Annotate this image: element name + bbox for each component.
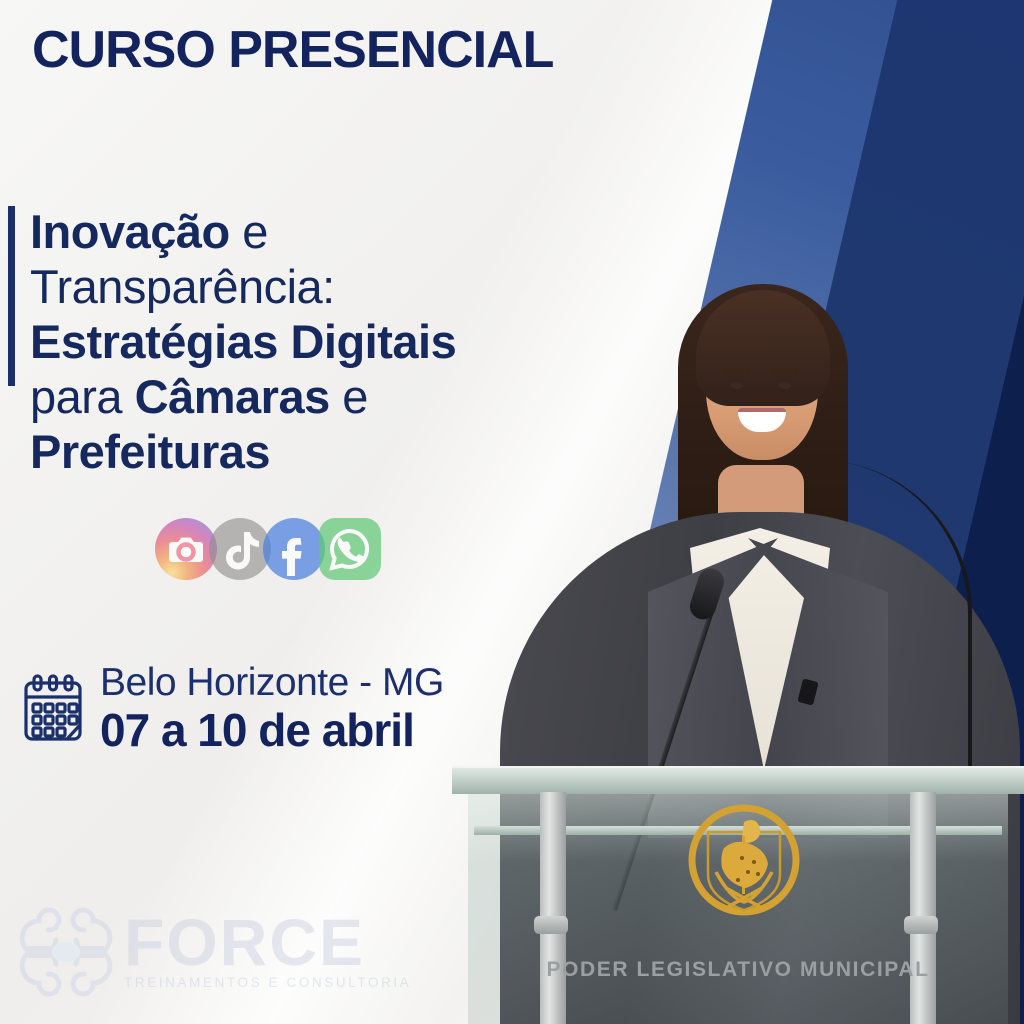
title-line-1: Inovação e [30,205,590,260]
title-word-para: para [30,370,135,423]
title-word-e2: e [330,370,368,423]
title-word-prefeituras: Prefeituras [30,425,270,478]
eye-right [778,382,791,389]
title-word-estrategias: Estratégias Digitais [30,315,456,368]
title-line-5: Prefeituras [30,425,590,480]
podium-label: PODER LEGISLATIVO MUNICIPAL [452,958,1024,982]
title-line-3: Estratégias Digitais [30,315,590,370]
brand-logo: FORCE TREINAMENTOS E CONSULTORIA [18,900,411,1004]
instagram-icon[interactable] [155,518,217,580]
title-word-inovacao: Inovação [30,205,230,258]
tiktok-icon[interactable] [209,518,271,580]
eyebrow-right [772,368,798,373]
event-text-block: Belo Horizonte - MG 07 a 10 de abril [100,663,444,754]
four-spiral-icon [18,900,114,1004]
logo-text-block: FORCE TREINAMENTOS E CONSULTORIA [124,900,411,990]
podium-leg-right [910,792,936,1024]
title-accent-bar [8,206,15,386]
title-word-e1: e [230,205,268,258]
mic-cable [818,460,972,790]
podium-knob-left [534,916,568,934]
podium-knob-right [904,916,938,934]
title-word-transparencia: Transparência: [30,260,335,313]
facebook-icon[interactable] [263,518,325,580]
poster-canvas: PODER LEGISLATIVO MUNICIPAL CURSO PRESEN… [0,0,1024,1024]
calendar-icon [22,673,84,745]
municipal-crest-emblem [684,800,804,920]
podium-glass-top [452,766,1024,794]
podium: PODER LEGISLATIVO MUNICIPAL [452,766,1024,1024]
title-line-2: Transparência: [30,260,590,315]
title-word-camaras: Câmaras [135,370,330,423]
event-info: Belo Horizonte - MG 07 a 10 de abril [22,663,444,754]
event-city: Belo Horizonte - MG [100,663,444,704]
podium-leg-left [540,792,566,1024]
page-title: Inovação e Transparência: Estratégias Di… [30,205,590,480]
social-icon-row [155,518,373,580]
page-kicker: CURSO PRESENCIAL [32,24,553,76]
eyebrow-left [724,368,750,373]
logo-wordmark: FORCE [124,912,411,973]
logo-tagline: TREINAMENTOS E CONSULTORIA [124,975,411,990]
title-line-4: para Câmaras e [30,370,590,425]
eye-left [730,382,743,389]
whatsapp-icon[interactable] [319,518,381,580]
event-dates: 07 a 10 de abril [100,706,444,754]
